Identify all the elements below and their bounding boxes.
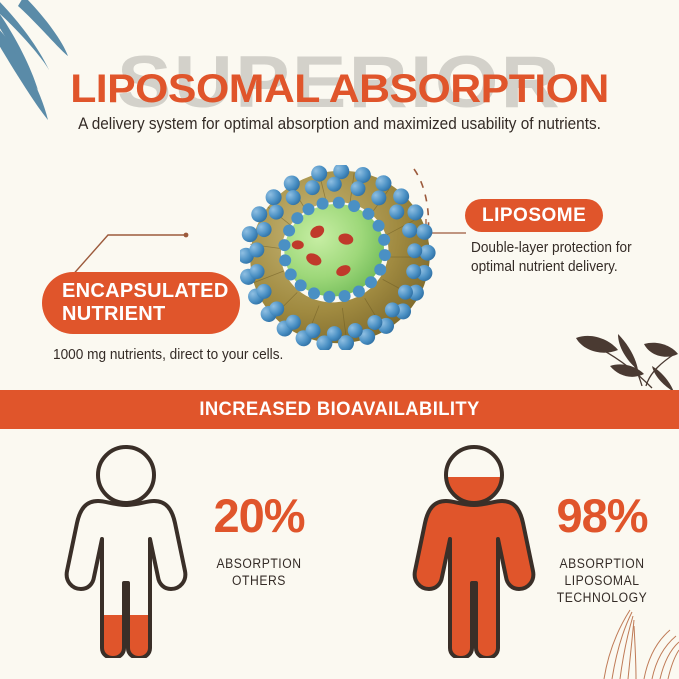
badge-liposome-label: LIPOSOME xyxy=(482,205,586,227)
badge-encapsulated-nutrient[interactable]: ENCAPSULATED NUTRIENT xyxy=(42,272,240,334)
page-title: LIPOSOMAL ABSORPTION xyxy=(0,67,679,111)
bioavailability-banner: INCREASED BIOAVAILABILITY xyxy=(0,390,679,429)
absorption-comparison: 20% ABSORPTION OTHERS xyxy=(0,429,679,679)
stat-percent-others: 20% xyxy=(180,491,338,541)
person-figure-filled-icon xyxy=(410,443,538,658)
badge-encapsulated-label: ENCAPSULATED NUTRIENT xyxy=(62,280,229,326)
liposome-illustration xyxy=(240,165,440,350)
stat-label-others: ABSORPTION OTHERS xyxy=(188,555,330,589)
page-subtitle: A delivery system for optimal absorption… xyxy=(24,114,655,134)
person-figure-outline-icon xyxy=(62,443,190,658)
liposome-caption: Double-layer protection for optimal nutr… xyxy=(471,239,659,277)
liposome-diagram: ENCAPSULATED NUTRIENT 1000 mg nutrients,… xyxy=(0,155,679,390)
badge-liposome[interactable]: LIPOSOME xyxy=(465,199,603,232)
stat-block-liposomal: 98% ABSORPTION LIPOSOMAL TECHNOLOGY xyxy=(525,491,679,606)
comparison-column-others: 20% ABSORPTION OTHERS xyxy=(0,429,339,679)
stat-percent-liposomal: 98% xyxy=(525,491,679,541)
comparison-column-liposomal: 98% ABSORPTION LIPOSOMAL TECHNOLOGY xyxy=(340,429,679,679)
infographic-page: SUPERIOR LIPOSOMAL ABSORPTION A delivery… xyxy=(0,0,679,679)
encapsulated-nutrient-caption: 1000 mg nutrients, direct to your cells. xyxy=(53,346,354,364)
stat-block-others: 20% ABSORPTION OTHERS xyxy=(180,491,338,589)
bioavailability-banner-label: INCREASED BIOAVAILABILITY xyxy=(199,399,479,421)
stat-label-liposomal: ABSORPTION LIPOSOMAL TECHNOLOGY xyxy=(533,555,672,606)
